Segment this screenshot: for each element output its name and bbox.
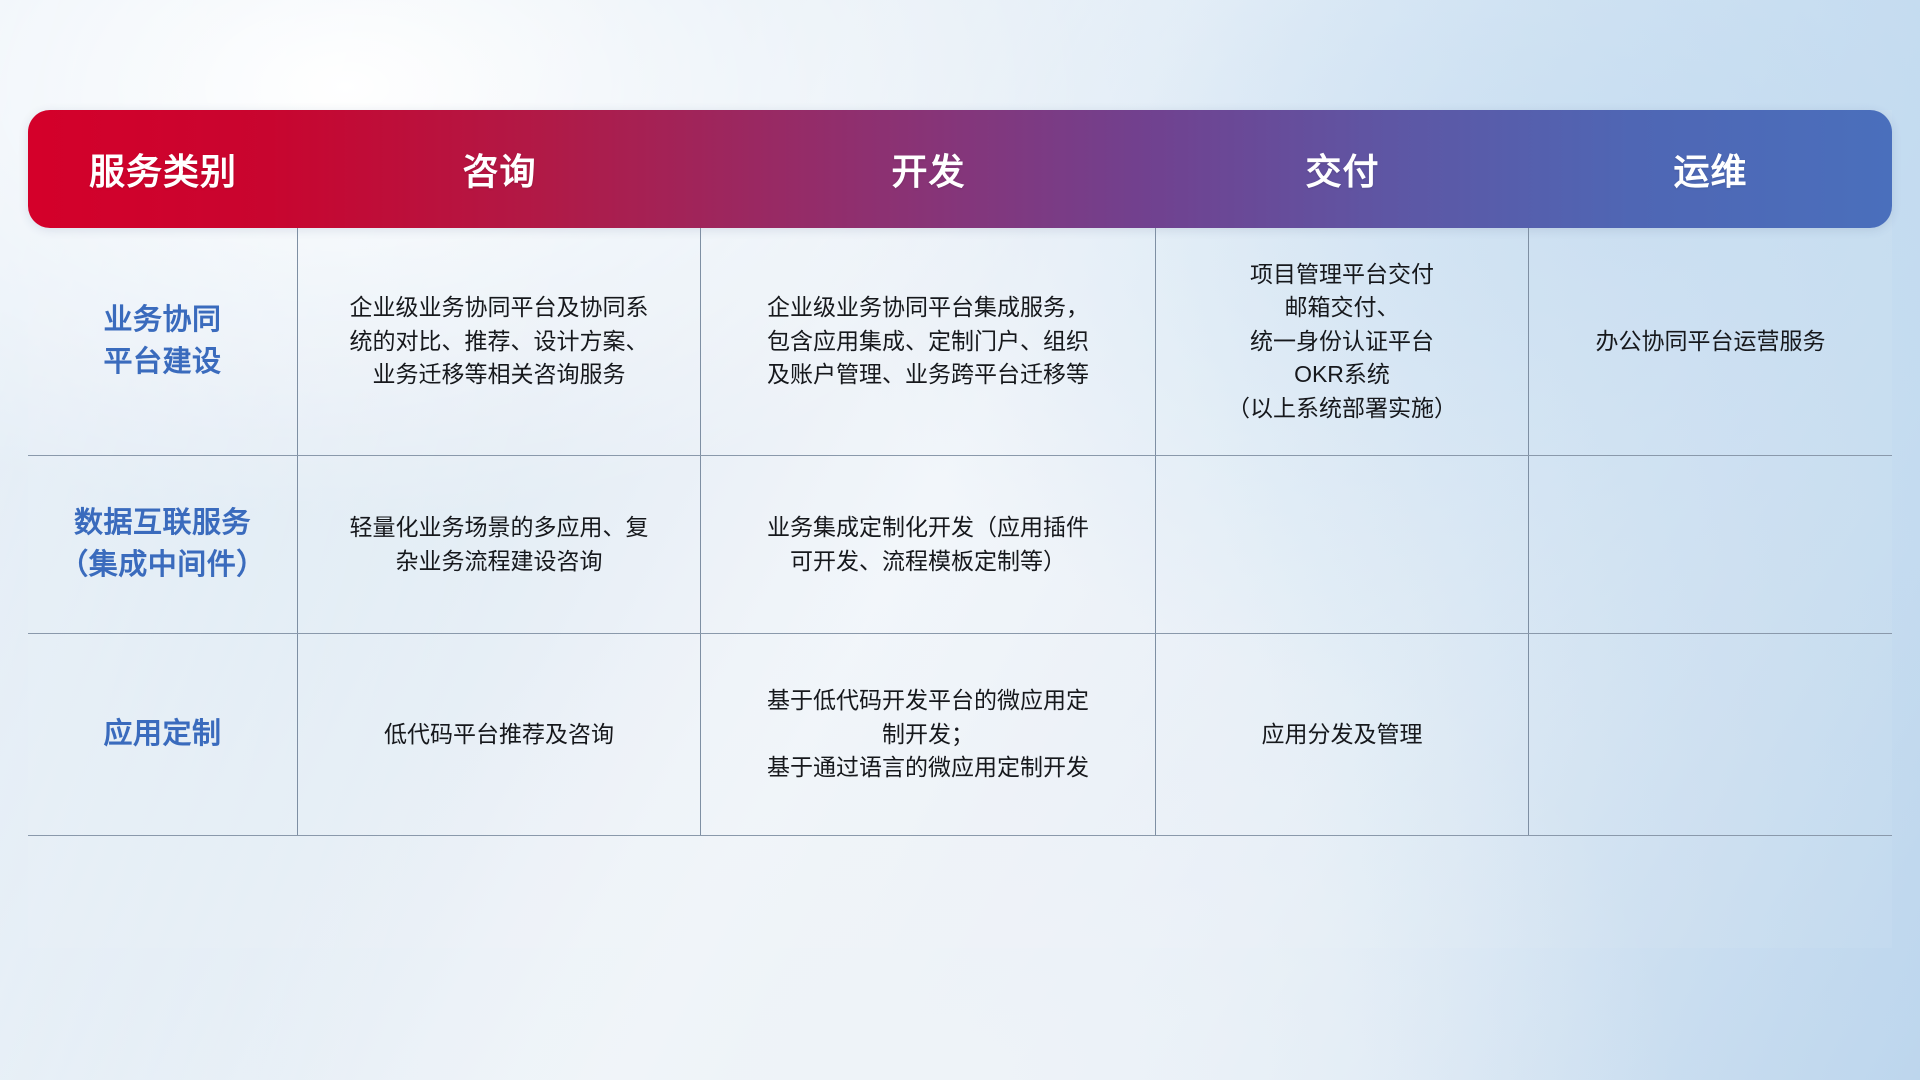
table-row: 应用定制 低代码平台推荐及咨询 基于低代码开发平台的微应用定 制开发； 基于通过… [28, 634, 1892, 836]
row-label-data-integration: 数据互联服务 （集成中间件） [28, 456, 298, 633]
cell-r1-develop: 企业级业务协同平台集成服务， 包含应用集成、定制门户、组织 及账户管理、业务跨平… [701, 228, 1156, 455]
page-root: 服务类别 咨询 开发 交付 运维 业务协同 平台建设 企业级业务协同平台及协同系… [0, 0, 1920, 1080]
table-row: 业务协同 平台建设 企业级业务协同平台及协同系 统的对比、推荐、设计方案、 业务… [28, 228, 1892, 456]
column-header-develop: 开发 [701, 110, 1156, 228]
cell-r2-consult: 轻量化业务场景的多应用、复 杂业务流程建设咨询 [298, 456, 701, 633]
service-matrix-table: 服务类别 咨询 开发 交付 运维 业务协同 平台建设 企业级业务协同平台及协同系… [28, 110, 1892, 948]
column-header-deliver: 交付 [1156, 110, 1529, 228]
cell-r3-consult: 低代码平台推荐及咨询 [298, 634, 701, 835]
row-label-business-collaboration: 业务协同 平台建设 [28, 228, 298, 455]
table-row: 数据互联服务 （集成中间件） 轻量化业务场景的多应用、复 杂业务流程建设咨询 业… [28, 456, 1892, 634]
cell-r1-operate: 办公协同平台运营服务 [1529, 228, 1892, 455]
cell-r3-operate [1529, 634, 1892, 835]
column-header-operate: 运维 [1529, 110, 1892, 228]
cell-r2-operate [1529, 456, 1892, 633]
cell-r2-deliver [1156, 456, 1529, 633]
cell-r3-deliver: 应用分发及管理 [1156, 634, 1529, 835]
row-label-app-customization: 应用定制 [28, 634, 298, 835]
table-body: 业务协同 平台建设 企业级业务协同平台及协同系 统的对比、推荐、设计方案、 业务… [28, 228, 1892, 836]
cell-r1-consult: 企业级业务协同平台及协同系 统的对比、推荐、设计方案、 业务迁移等相关咨询服务 [298, 228, 701, 455]
cell-r1-deliver: 项目管理平台交付 邮箱交付、 统一身份认证平台 OKR系统 （以上系统部署实施） [1156, 228, 1529, 455]
cell-r3-develop: 基于低代码开发平台的微应用定 制开发； 基于通过语言的微应用定制开发 [701, 634, 1156, 835]
column-header-consult: 咨询 [298, 110, 701, 228]
table-header-row: 服务类别 咨询 开发 交付 运维 [28, 110, 1892, 228]
column-header-category: 服务类别 [28, 110, 298, 228]
cell-r2-develop: 业务集成定制化开发（应用插件 可开发、流程模板定制等） [701, 456, 1156, 633]
